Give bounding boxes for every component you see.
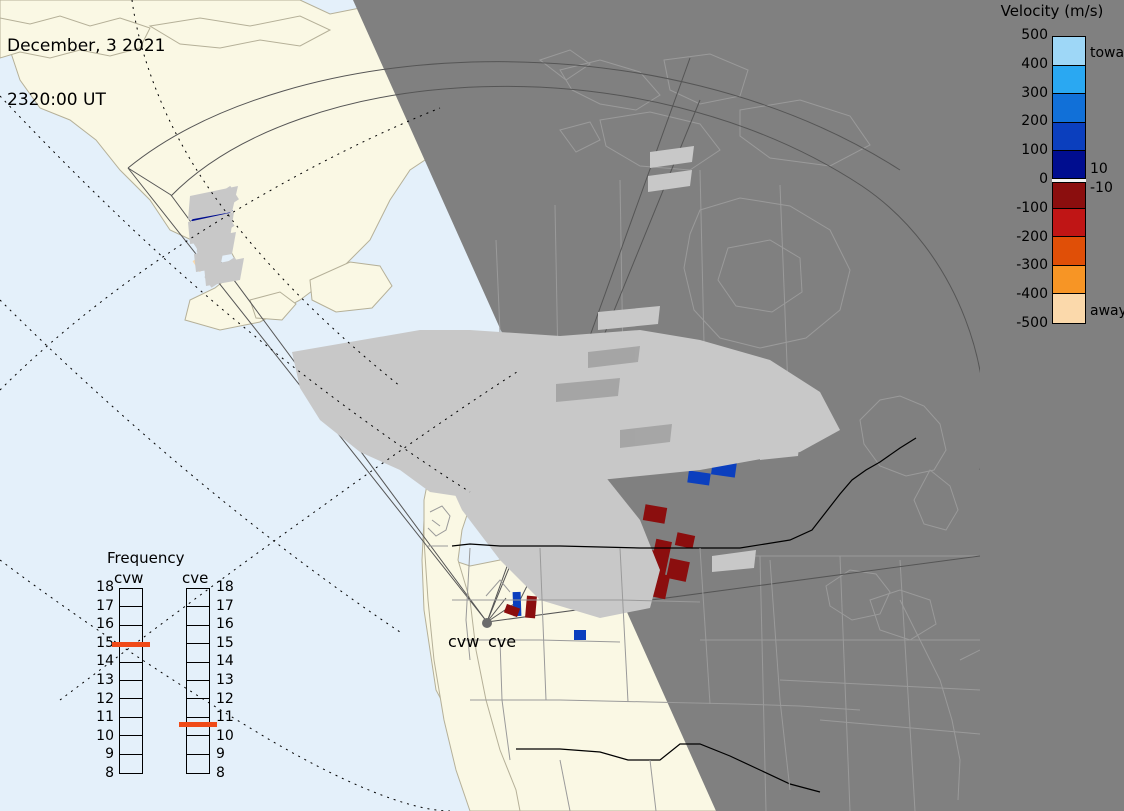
colorbar-tick-300: 300 <box>1008 85 1048 101</box>
colorbar-neutral-band <box>1052 178 1086 183</box>
frequency-tick-cve-14: 14 <box>216 653 238 669</box>
frequency-tick-cvw-14: 14 <box>92 653 114 669</box>
colorbar-tick--200: -200 <box>1008 229 1048 245</box>
site-label-cvw: cvw <box>448 632 479 651</box>
velocity-cell <box>525 596 537 619</box>
colorbar-tick-0: 0 <box>1008 171 1048 187</box>
frequency-segment <box>187 607 209 625</box>
frequency-tick-cve-16: 16 <box>216 616 238 632</box>
colorbar-tick-200: 200 <box>1008 113 1048 129</box>
colorbar-band-6 <box>1053 209 1085 238</box>
frequency-tick-cvw-18: 18 <box>92 579 114 595</box>
colorbar-band-0 <box>1053 37 1085 66</box>
frequency-segment <box>120 755 142 773</box>
frequency-segment <box>187 681 209 699</box>
frequency-segment <box>187 755 209 773</box>
velocity-cell <box>666 558 690 582</box>
colorbar-band-9 <box>1053 294 1085 323</box>
frequency-tick-cve-15: 15 <box>216 635 238 651</box>
time-label: 2320:00 UT <box>7 91 165 109</box>
frequency-segment <box>187 589 209 607</box>
colorbar-band-7 <box>1053 237 1085 266</box>
frequency-segment <box>120 699 142 717</box>
frequency-tick-cvw-12: 12 <box>92 691 114 707</box>
frequency-marker-cve <box>179 722 217 727</box>
colorbar-band-4 <box>1053 151 1085 180</box>
frequency-tick-cvw-11: 11 <box>92 709 114 725</box>
frequency-segment <box>187 644 209 662</box>
colorbar-mid-high-label: 10 <box>1090 161 1108 177</box>
colorbar-tick-400: 400 <box>1008 56 1048 72</box>
colorbar-away-label: away <box>1090 303 1124 319</box>
frequency-segment <box>187 736 209 754</box>
frequency-segment <box>120 589 142 607</box>
frequency-tick-cvw-17: 17 <box>92 598 114 614</box>
colorbar-title: Velocity (m/s) <box>981 2 1123 20</box>
velocity-cell <box>574 630 586 640</box>
frequency-tick-cve-9: 9 <box>216 746 238 762</box>
frequency-segment <box>120 663 142 681</box>
colorbar-band-5 <box>1053 180 1085 209</box>
frequency-segment <box>120 736 142 754</box>
frequency-segment <box>120 607 142 625</box>
colorbar-mid-low-label: -10 <box>1090 180 1113 196</box>
frequency-segment <box>120 644 142 662</box>
map-canvas[interactable]: December, 3 2021 2320:00 UT cvw cve Freq… <box>0 0 980 811</box>
frequency-tick-cve-12: 12 <box>216 691 238 707</box>
colorbar-band-1 <box>1053 66 1085 95</box>
frequency-segment <box>187 663 209 681</box>
colorbar-tick--400: -400 <box>1008 286 1048 302</box>
frequency-segment <box>187 718 209 736</box>
colorbar-toward-label: toward <box>1090 45 1124 61</box>
colorbar-tick-500: 500 <box>1008 27 1048 43</box>
frequency-tick-cvw-9: 9 <box>92 746 114 762</box>
frequency-tick-cvw-10: 10 <box>92 728 114 744</box>
frequency-segment <box>187 626 209 644</box>
timestamp-header: December, 3 2021 2320:00 UT <box>7 1 165 145</box>
colorbar-tick--100: -100 <box>1008 200 1048 216</box>
colorbar-band-8 <box>1053 266 1085 295</box>
frequency-segment <box>120 681 142 699</box>
frequency-marker-cvw <box>112 642 150 647</box>
frequency-tick-cvw-13: 13 <box>92 672 114 688</box>
colorbar-tick-100: 100 <box>1008 142 1048 158</box>
radar-site-marker[interactable] <box>482 618 492 628</box>
date-label: December, 3 2021 <box>7 37 165 55</box>
frequency-legend-title: Frequency <box>107 549 185 567</box>
frequency-tick-cve-11: 11 <box>216 709 238 725</box>
frequency-tick-cvw-8: 8 <box>92 765 114 781</box>
frequency-tick-cve-18: 18 <box>216 579 238 595</box>
colorbar-tick--500: -500 <box>1008 315 1048 331</box>
frequency-tick-cvw-15: 15 <box>92 635 114 651</box>
frequency-bar-cve[interactable] <box>186 588 210 774</box>
frequency-column-header-cvw: cvw <box>114 569 143 587</box>
frequency-column-header-cve: cve <box>182 569 208 587</box>
colorbar-band-3 <box>1053 123 1085 152</box>
colorbar-tick--300: -300 <box>1008 257 1048 273</box>
frequency-tick-cve-13: 13 <box>216 672 238 688</box>
frequency-segment <box>187 699 209 717</box>
frequency-tick-cve-10: 10 <box>216 728 238 744</box>
frequency-segment <box>120 718 142 736</box>
frequency-tick-cve-8: 8 <box>216 765 238 781</box>
colorbar-band-2 <box>1053 94 1085 123</box>
frequency-tick-cve-17: 17 <box>216 598 238 614</box>
frequency-tick-cvw-16: 16 <box>92 616 114 632</box>
superdarn-velocity-map: December, 3 2021 2320:00 UT cvw cve Freq… <box>0 0 1124 811</box>
site-label-cve: cve <box>488 632 516 651</box>
frequency-bar-cvw[interactable] <box>119 588 143 774</box>
